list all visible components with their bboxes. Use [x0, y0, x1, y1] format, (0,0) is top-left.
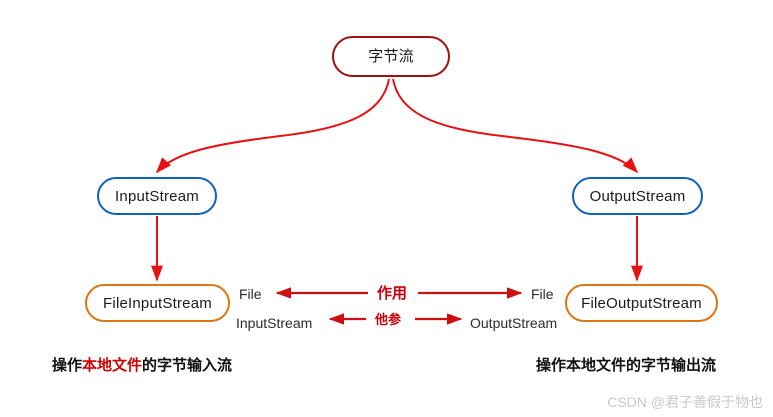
- node-fileinputstream-label: FileInputStream: [103, 296, 212, 311]
- node-inputstream[interactable]: InputStream: [97, 177, 217, 215]
- node-outputstream-label: OutputStream: [590, 189, 686, 204]
- node-fileinputstream[interactable]: FileInputStream: [85, 284, 230, 322]
- caption-left-suffix: 的字节输入流: [142, 357, 232, 374]
- edge-root-to-inputstream: [157, 79, 389, 172]
- relation-outputstream-right: OutputStream: [470, 316, 557, 330]
- diagram-canvas: 字节流 InputStream OutputStream FileInputSt…: [0, 0, 773, 417]
- caption-output-stream: 操作本地文件的字节输出流: [536, 358, 716, 373]
- caption-input-stream: 操作本地文件的字节输入流: [52, 358, 232, 373]
- caption-left-prefix: 操作: [52, 357, 82, 374]
- edge-root-to-outputstream: [393, 79, 637, 172]
- relation-file-left: File: [239, 287, 262, 301]
- node-fileoutputstream-label: FileOutputStream: [581, 296, 702, 311]
- node-fileoutputstream[interactable]: FileOutputStream: [565, 284, 718, 322]
- node-inputstream-label: InputStream: [115, 189, 199, 204]
- node-outputstream[interactable]: OutputStream: [572, 177, 703, 215]
- relation-file-right: File: [531, 287, 554, 301]
- csdn-watermark: CSDN @君子善假于物也: [607, 395, 763, 409]
- relation-badge-tacan: 他参: [375, 313, 401, 326]
- relation-inputstream-left: InputStream: [236, 316, 312, 330]
- caption-left-highlight: 本地文件: [82, 357, 142, 374]
- node-byte-stream[interactable]: 字节流: [332, 36, 450, 77]
- relation-badge-zuoyong: 作用: [377, 286, 407, 301]
- node-byte-stream-label: 字节流: [368, 49, 414, 64]
